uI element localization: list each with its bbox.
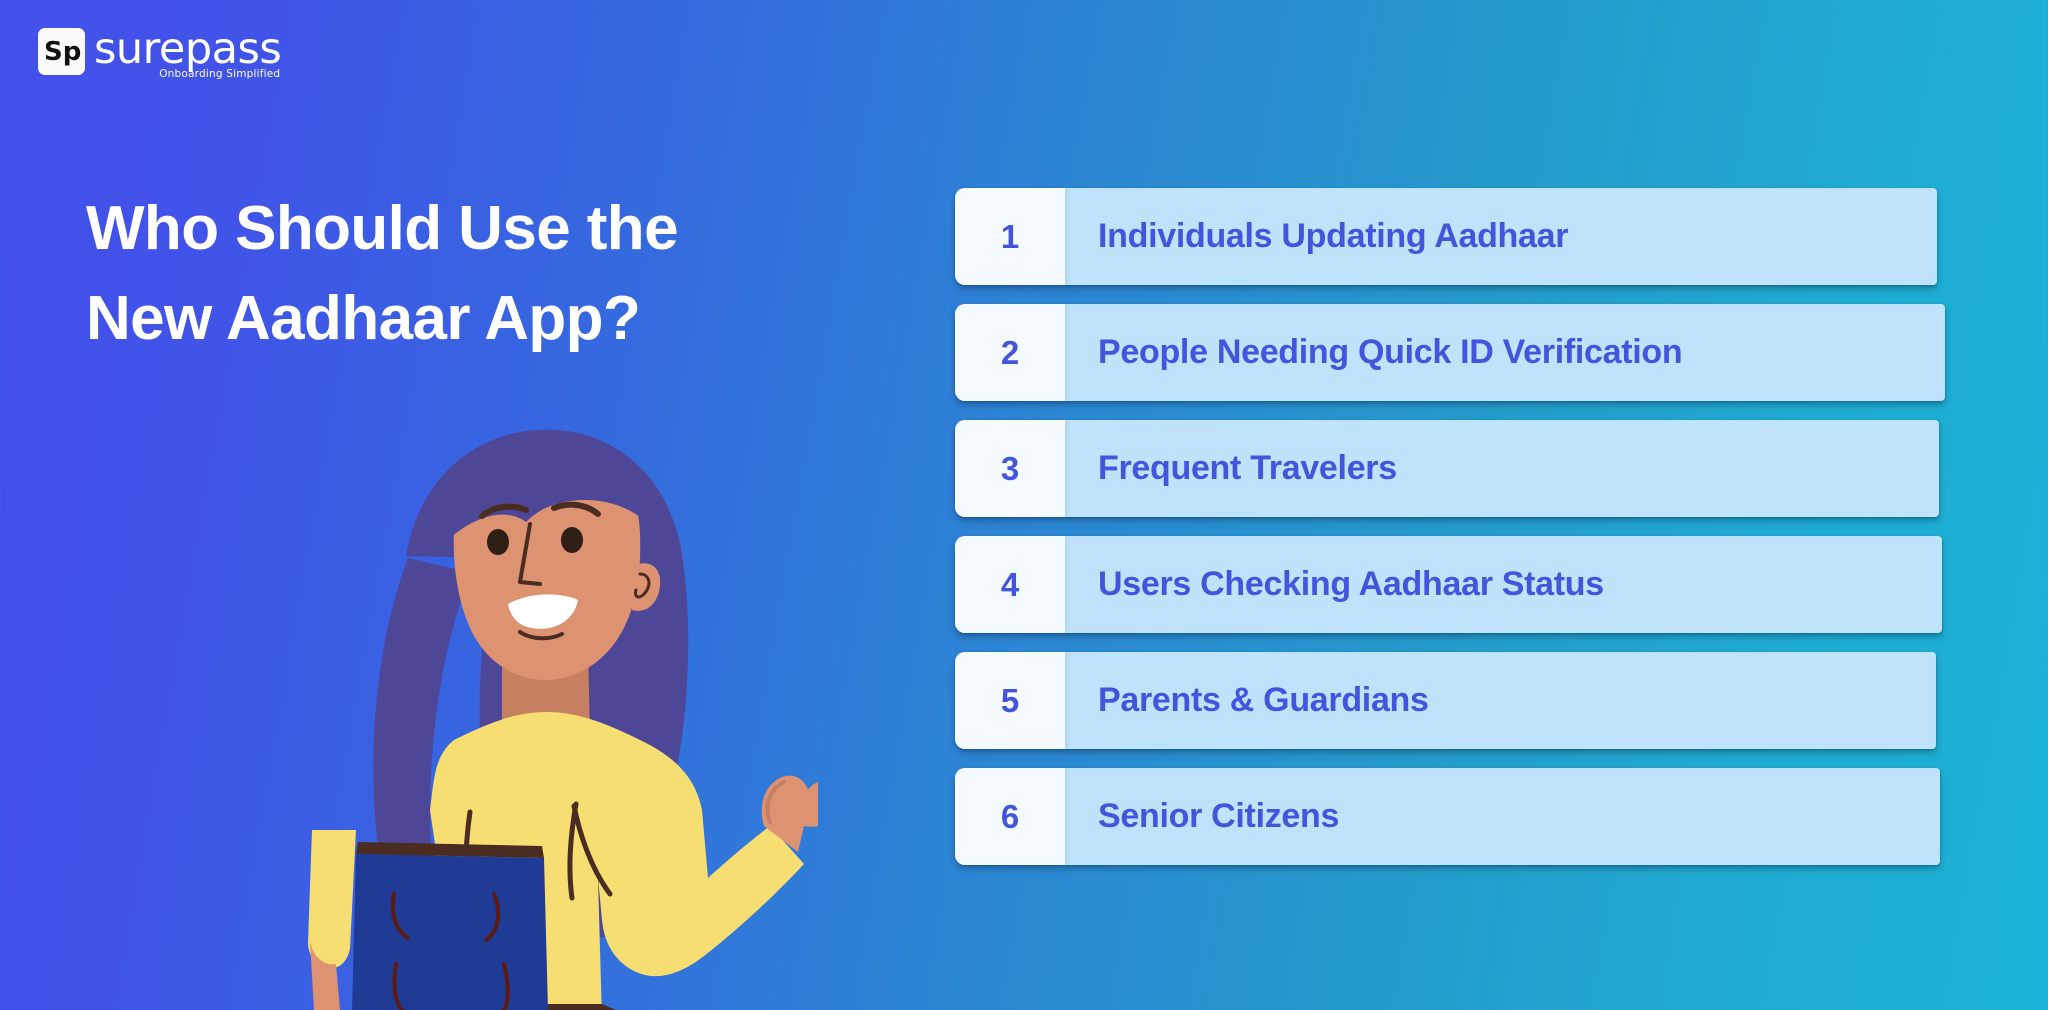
page-title-line-1: Who Should Use the <box>86 184 906 274</box>
list-item[interactable]: 4 Users Checking Aadhaar Status <box>955 536 1942 633</box>
list-item-label: Individuals Updating Aadhaar <box>1065 188 1937 285</box>
list-item-number: 5 <box>955 652 1065 749</box>
list-item-label: Parents & Guardians <box>1065 652 1936 749</box>
list-item[interactable]: 2 People Needing Quick ID Verification <box>955 304 1945 401</box>
page-title: Who Should Use the New Aadhaar App? <box>86 184 906 364</box>
list-item[interactable]: 6 Senior Citizens <box>955 768 1940 865</box>
brand-tagline: Onboarding Simplified <box>159 68 280 80</box>
list-item-label: People Needing Quick ID Verification <box>1065 304 1945 401</box>
list-item[interactable]: 3 Frequent Travelers <box>955 420 1939 517</box>
surepass-logo-icon: Sp <box>38 28 85 75</box>
page-title-line-2: New Aadhaar App? <box>86 274 906 364</box>
list-item-number: 6 <box>955 768 1065 865</box>
list-item-label: Frequent Travelers <box>1065 420 1939 517</box>
list-item-number: 2 <box>955 304 1065 401</box>
woman-lower-body <box>352 838 548 1010</box>
list-item-number: 3 <box>955 420 1065 517</box>
list-item-number: 1 <box>955 188 1065 285</box>
list-item-number: 4 <box>955 536 1065 633</box>
woman-left-arm <box>300 830 372 1010</box>
audience-list: 1 Individuals Updating Aadhaar 2 People … <box>955 188 1955 865</box>
list-item[interactable]: 5 Parents & Guardians <box>955 652 1936 749</box>
svg-text:Sp: Sp <box>44 37 81 67</box>
brand-logo: Sp surepass Onboarding Simplified <box>38 26 281 90</box>
brand-name: surepass <box>94 26 281 72</box>
list-item-label: Senior Citizens <box>1065 768 1940 865</box>
list-item[interactable]: 1 Individuals Updating Aadhaar <box>955 188 1937 285</box>
brand-text: surepass Onboarding Simplified <box>94 26 281 88</box>
list-item-label: Users Checking Aadhaar Status <box>1065 536 1942 633</box>
